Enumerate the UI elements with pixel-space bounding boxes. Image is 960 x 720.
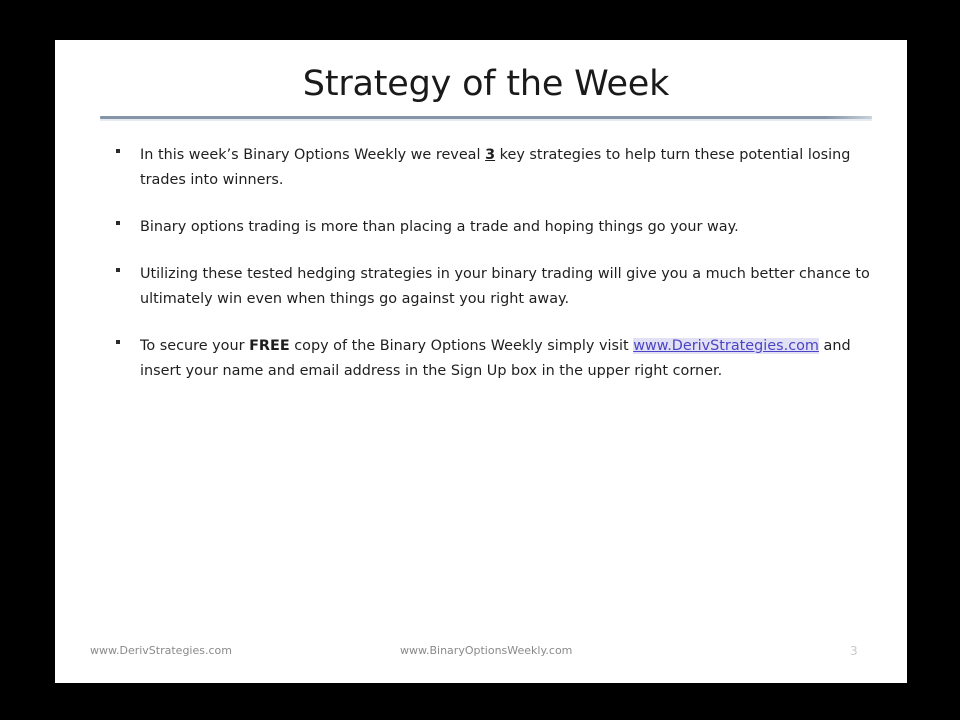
footer-center-url: www.BinaryOptionsWeekly.com: [400, 644, 572, 657]
list-item: Utilizing these tested hedging strategie…: [107, 262, 892, 312]
title-divider-shadow: [100, 119, 872, 121]
bullet-list: In this week’s Binary Options Weekly we …: [107, 143, 892, 406]
bullet-point-icon: [116, 268, 120, 272]
text-segment: To secure your: [140, 338, 249, 354]
text-segment: Utilizing these tested hedging strategie…: [140, 266, 870, 307]
text-segment: Binary options trading is more than plac…: [140, 219, 739, 235]
bullet-point-icon: [116, 149, 120, 153]
footer-page-number: 3: [850, 644, 858, 658]
text-segment: In this week’s Binary Options Weekly we …: [140, 147, 485, 163]
list-item: In this week’s Binary Options Weekly we …: [107, 143, 892, 193]
bullet-point-icon: [116, 340, 120, 344]
list-item-text: Binary options trading is more than plac…: [140, 215, 892, 240]
list-item: Binary options trading is more than plac…: [107, 215, 892, 240]
derivstrategies-hyperlink[interactable]: www.DerivStrategies.com: [633, 338, 819, 354]
footer-left-url: www.DerivStrategies.com: [90, 644, 232, 657]
list-item: To secure your FREE copy of the Binary O…: [107, 334, 892, 384]
text-segment: copy of the Binary Options Weekly simply…: [290, 338, 634, 354]
title-block: Strategy of the Week: [100, 62, 872, 106]
list-item-text: In this week’s Binary Options Weekly we …: [140, 143, 892, 193]
list-item-text: To secure your FREE copy of the Binary O…: [140, 334, 892, 384]
text-segment-emphasis: FREE: [249, 338, 290, 354]
presentation-slide: Strategy of the Week In this week’s Bina…: [55, 40, 907, 683]
slide-footer: www.DerivStrategies.com www.BinaryOption…: [55, 638, 907, 678]
bullet-point-icon: [116, 221, 120, 225]
text-segment-emphasis: 3: [485, 147, 495, 163]
page-title: Strategy of the Week: [100, 62, 872, 106]
list-item-text: Utilizing these tested hedging strategie…: [140, 262, 892, 312]
letterbox-frame: Strategy of the Week In this week’s Bina…: [0, 0, 960, 720]
